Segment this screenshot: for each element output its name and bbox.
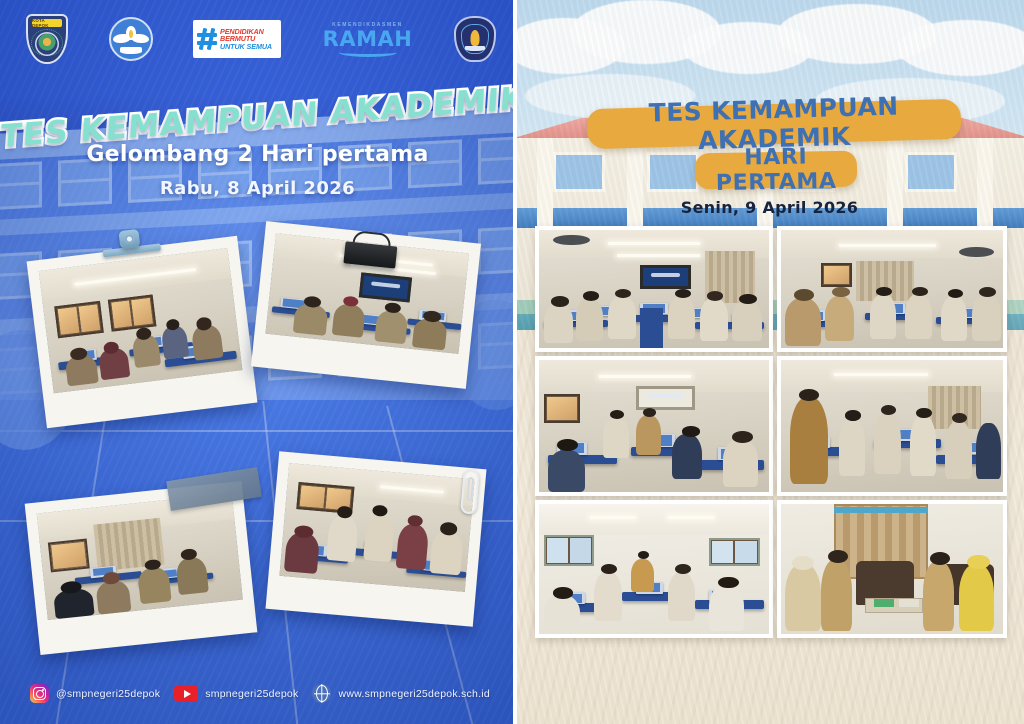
left-title-date: Rabu, 8 April 2026 xyxy=(0,178,515,199)
tut-wuri-handayani-logo xyxy=(109,17,153,61)
polaroid-photo-3 xyxy=(25,481,258,655)
binder-clip-icon xyxy=(343,229,398,268)
right-title-main-banner: TES KEMAMPUAN AKADEMIK xyxy=(587,99,962,149)
grid-photo-2 xyxy=(777,226,1007,352)
round-clip-icon xyxy=(116,229,143,260)
left-title-sub: Gelombang 2 Hari pertama xyxy=(0,142,515,167)
grid-photo-6 xyxy=(777,500,1007,638)
ramah-wordmark: RAMAH xyxy=(323,29,413,50)
grid-photo-3 xyxy=(535,356,773,496)
instagram-contact[interactable]: @smpnegeri25depok xyxy=(30,684,160,703)
grid-photo-5 xyxy=(535,500,773,638)
left-footer-contacts: @smpnegeri25depok smpnegeri25depok www.s… xyxy=(30,684,490,703)
right-title-date: Senin, 9 April 2026 xyxy=(515,198,1024,217)
website-contact[interactable]: www.smpnegeri25depok.sch.id xyxy=(312,684,490,703)
right-title-sub: HARI PERTAMA xyxy=(695,144,858,197)
youtube-icon xyxy=(174,685,198,702)
instagram-icon xyxy=(30,684,49,703)
globe-icon xyxy=(312,684,331,703)
polaroid-photo-4 xyxy=(266,451,487,627)
polaroid-photo-1 xyxy=(27,236,258,429)
right-title-sub-banner: HARI PERTAMA xyxy=(695,151,858,190)
youtube-handle: smpnegeri25depok xyxy=(205,688,298,700)
kota-depok-logo: KOTA DEPOK xyxy=(26,14,68,64)
website-url: www.smpnegeri25depok.sch.id xyxy=(338,688,490,700)
right-photo-grid xyxy=(535,226,1007,638)
panel-divider xyxy=(513,0,517,724)
right-poster-panel: KOTA DEPOK PENDIDIKAN BERMUTU UNTUK SEMU… xyxy=(515,0,1024,724)
cloud-shape xyxy=(897,20,1024,76)
kota-depok-label: KOTA DEPOK xyxy=(32,19,62,27)
pbus-line3: UNTUK SEMUA xyxy=(220,43,272,50)
sekolah-logo xyxy=(454,16,496,62)
grid-photo-1 xyxy=(535,226,773,352)
left-logo-row: KOTA DEPOK PENDIDIKAN BERMUTU UNTUK SEMU… xyxy=(26,14,496,64)
youtube-contact[interactable]: smpnegeri25depok xyxy=(174,685,298,702)
poster-canvas: KOTA DEPOK PENDIDIKAN BERMUTU UNTUK SEMU… xyxy=(0,0,1024,724)
instagram-handle: @smpnegeri25depok xyxy=(56,688,160,700)
grid-photo-4 xyxy=(777,356,1007,496)
hash-icon xyxy=(197,28,217,50)
ramah-swoosh-icon xyxy=(339,48,397,57)
ramah-logo: KEMENDIKDASMEN RAMAH xyxy=(322,19,414,59)
pendidikan-bermutu-untuk-semua-logo: PENDIDIKAN BERMUTU UNTUK SEMUA xyxy=(193,20,281,58)
left-poster-panel: KOTA DEPOK PENDIDIKAN BERMUTU UNTUK SEMU… xyxy=(0,0,515,724)
